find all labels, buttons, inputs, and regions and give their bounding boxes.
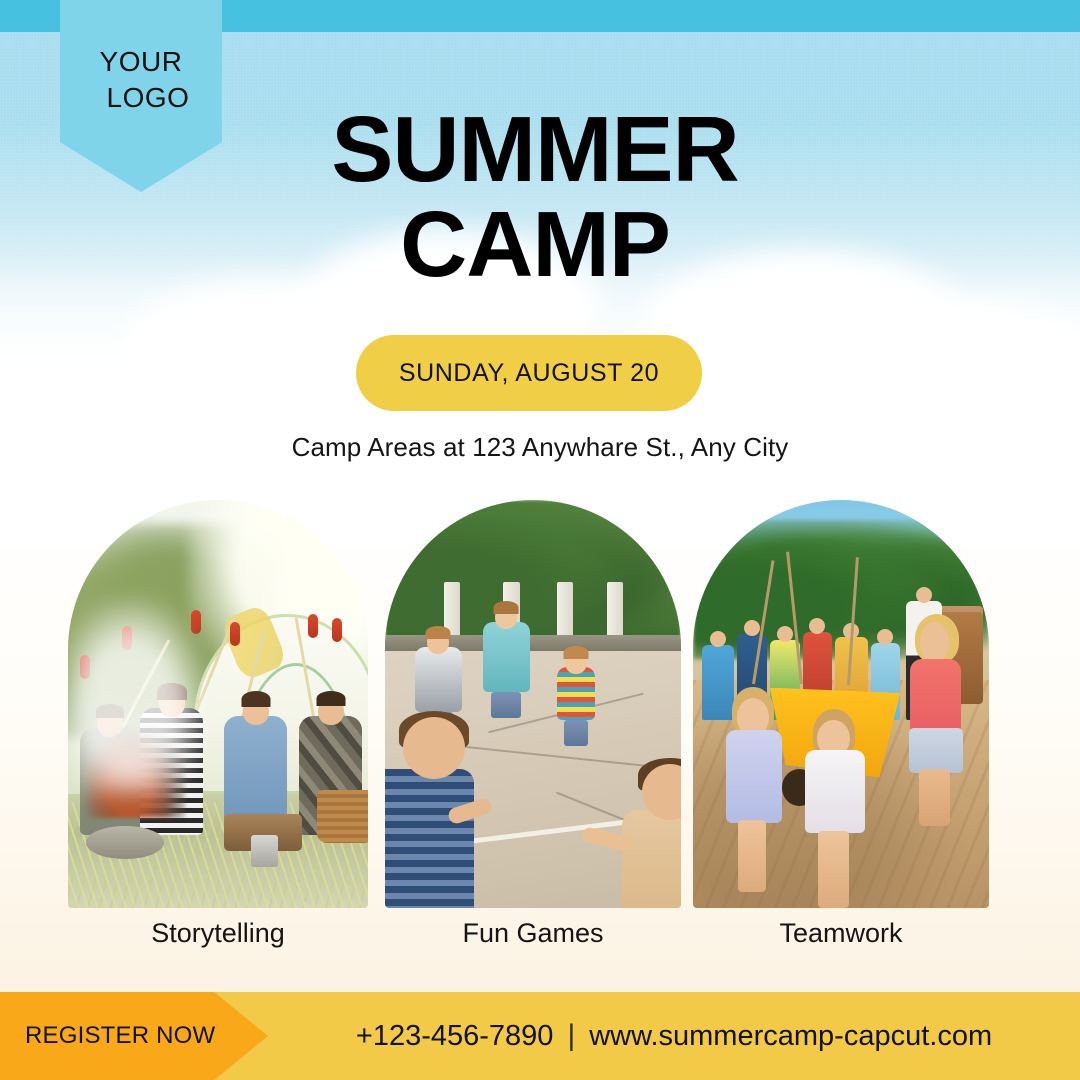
scene1-basket [317, 790, 368, 843]
child-figure [415, 647, 462, 712]
footer-contact: +123-456-7890 | www.summercamp-capcut.co… [268, 992, 1080, 1080]
logo-line-1: YOUR [100, 44, 183, 80]
scene-jumping-rope [385, 500, 681, 908]
gallery-captions: Storytelling Fun Games Teamwork [0, 918, 1080, 970]
sausage [308, 614, 318, 638]
register-now-label: REGISTER NOW [0, 1022, 215, 1050]
website-url[interactable]: www.summercamp-capcut.com [589, 1020, 992, 1053]
title-line-2: CAMP [275, 200, 795, 289]
child-figure-foreground [805, 737, 864, 908]
child-figure-foreground [385, 769, 474, 908]
footer-bar: REGISTER NOW +123-456-7890 | www.summerc… [0, 992, 1080, 1080]
scene2-pillar [607, 582, 623, 643]
poster-canvas: YOUR LOGO SUMMER CAMP SUNDAY, AUGUST 20 … [0, 0, 1080, 1080]
scene2-pillar [557, 582, 573, 643]
address-line: Camp Areas at 123 Anywhare St., Any City [0, 432, 1080, 463]
caption-fun-games: Fun Games [385, 918, 681, 949]
child-figure-foreground [726, 712, 782, 892]
register-now-button[interactable]: REGISTER NOW [0, 992, 268, 1080]
title-line-1: SUMMER [275, 105, 795, 194]
caption-teamwork: Teamwork [693, 918, 989, 949]
contact-separator: | [567, 1019, 575, 1053]
logo-line-2: LOGO [93, 80, 190, 116]
scene1-smoke [68, 598, 206, 794]
child-figure [702, 645, 735, 720]
child-figure [483, 622, 530, 691]
page-title: SUMMER CAMP [275, 105, 795, 290]
gallery-photo-teamwork[interactable] [693, 500, 989, 908]
gallery-photo-fun-games[interactable] [385, 500, 681, 908]
scene1-rocks [86, 826, 164, 859]
cloud-puff [120, 280, 400, 420]
phone-number[interactable]: +123-456-7890 [356, 1020, 554, 1053]
scene-campfire [68, 500, 368, 908]
scene1-mug [251, 835, 278, 868]
caption-storytelling: Storytelling [68, 918, 368, 949]
scene-wheelbarrow [693, 500, 989, 908]
adult-figure-foreground [903, 622, 974, 826]
gallery-photo-storytelling[interactable] [68, 500, 368, 908]
date-badge-label: SUNDAY, AUGUST 20 [399, 359, 659, 388]
date-badge: SUNDAY, AUGUST 20 [356, 335, 702, 411]
photo-gallery [0, 500, 1080, 912]
child-figure-foreground [622, 810, 681, 908]
child-figure [557, 667, 595, 720]
scene2-forest [385, 500, 681, 647]
sausage [230, 622, 240, 646]
sausage [332, 618, 342, 642]
